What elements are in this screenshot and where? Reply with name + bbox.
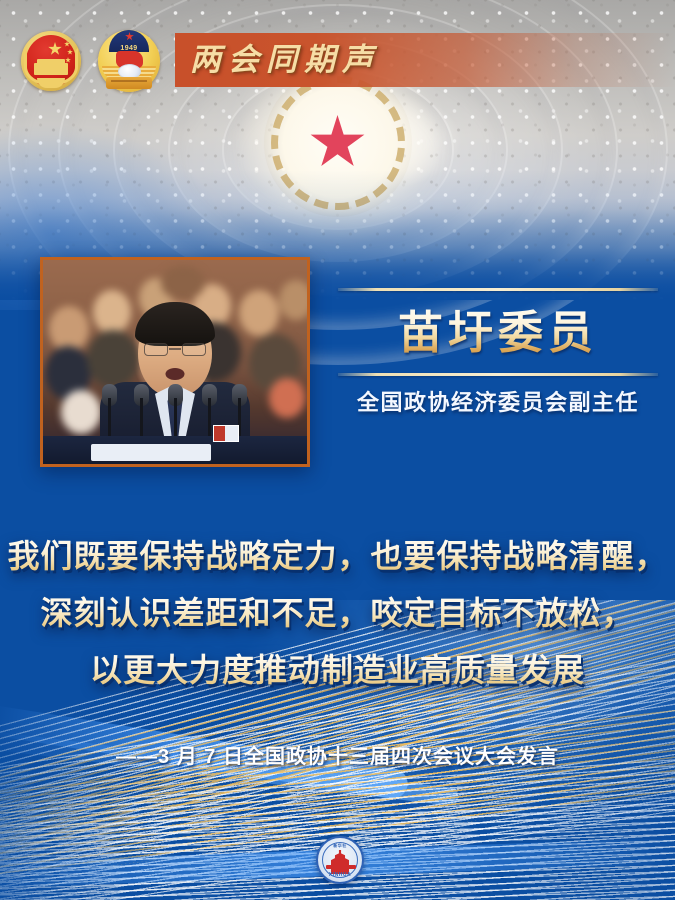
logo-top-text: 新华社 [318,843,362,849]
podium [43,436,310,464]
speaker-title: 全国政协经济委员会副主任 [338,388,658,418]
speaker-identity-block: 苗圩委员 全国政协经济委员会副主任 [338,288,658,418]
banner-title: 两会同期声 [190,37,380,83]
divider-bottom [338,373,658,376]
quote-block: 我们既要保持战略定力，也要保持战略清醒， 深刻认识差距和不足，咬定目标不放松， … [0,528,675,699]
quote-line-2: 深刻认识差距和不足，咬定目标不放松， [0,585,675,642]
speaker-name: 苗圩委员 [338,305,658,361]
divider-top [338,288,658,291]
quote-attribution: ——3 月 7 日全国政协十三届四次会议大会发言 [0,740,675,769]
xinhua-news-agency-logo-icon: 新华社 XINHUA [316,836,364,884]
national-emblem-icon [18,28,84,94]
delegate-badge [213,425,239,442]
logo-bottom-text: XINHUA [318,872,362,878]
top-banner: 1949 两会同期声 [0,33,675,87]
photo-image [43,260,307,464]
quote-line-1: 我们既要保持战略定力，也要保持战略清醒， [0,528,675,585]
speaker-photo [40,257,310,467]
quote-line-3: 以更大力度推动制造业高质量发展 [0,642,675,699]
name-plate [91,444,211,461]
cppcc-emblem-icon: 1949 [96,28,162,94]
speaker-mouth [166,368,185,380]
poster-root: 1949 两会同期声 [0,0,675,900]
speaker-glasses-icon [143,343,207,357]
